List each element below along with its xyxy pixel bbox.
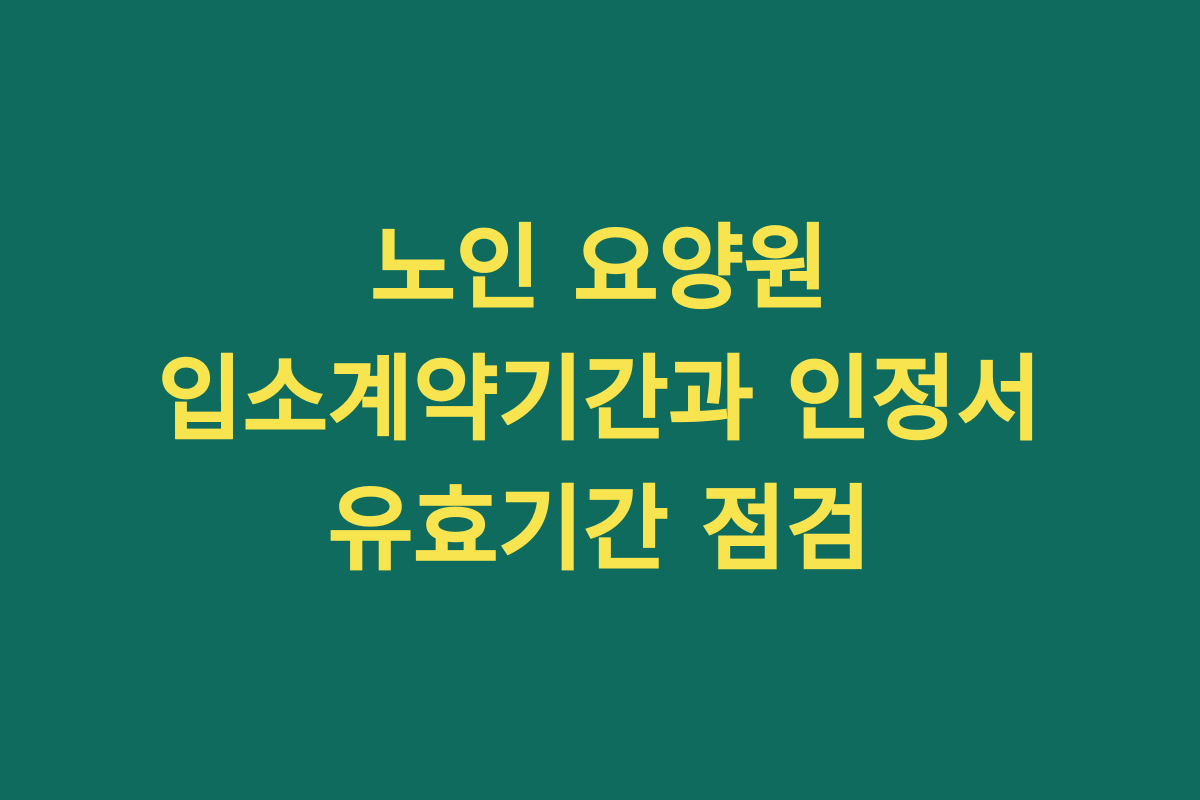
title-card: 노인 요양원 입소계약기간과 인정서 유효기간 점검 bbox=[0, 0, 1200, 800]
page-title: 노인 요양원 입소계약기간과 인정서 유효기간 점검 bbox=[85, 204, 1115, 596]
